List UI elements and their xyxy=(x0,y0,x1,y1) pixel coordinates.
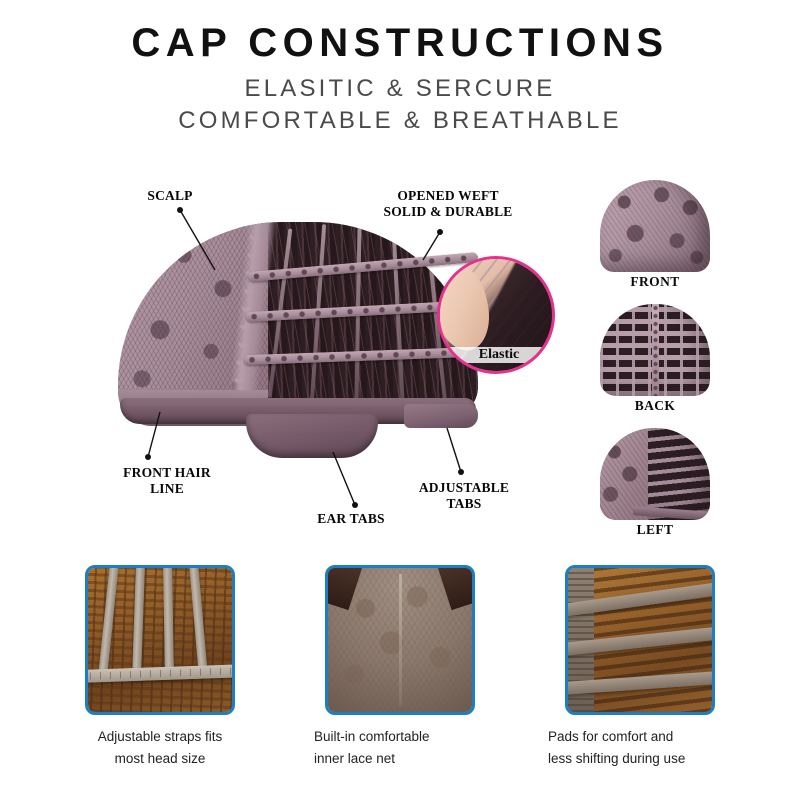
subtitle-line-1: ELASITIC & SERCURE xyxy=(0,74,800,104)
view-caption-left: LEFT xyxy=(575,522,735,538)
feature-caption: Pads for comfort and less shifting durin… xyxy=(540,726,740,771)
feature-image-frame xyxy=(325,565,475,715)
elastic-label: Elastic xyxy=(440,347,555,363)
feature-comfort-pads: Pads for comfort and less shifting durin… xyxy=(540,565,740,771)
lace-center-seam xyxy=(399,574,402,706)
back-dome-shape xyxy=(600,304,710,396)
elastic-inset-circle: Elastic xyxy=(437,256,555,374)
feature-panels: Adjustable straps fits most head size Bu… xyxy=(0,565,800,771)
feature-adjustable-straps: Adjustable straps fits most head size xyxy=(60,565,260,771)
view-back: BACK xyxy=(575,304,735,414)
cap-view-thumbnails: FRONT BACK LEFT xyxy=(575,180,735,538)
left-dome-shape xyxy=(600,428,710,520)
main-cap-illustration xyxy=(118,222,478,452)
callout-ear-tabs: EAR TABS xyxy=(306,511,396,527)
header: CAP CONSTRUCTIONS ELASITIC & SERCURE COM… xyxy=(0,22,800,136)
adjustable-tab xyxy=(404,404,478,428)
view-front: FRONT xyxy=(575,180,735,290)
feature-inner-lace-net: Built-in comfortable inner lace net xyxy=(300,565,500,771)
cap-dome xyxy=(118,222,478,418)
front-dome-shape xyxy=(600,180,710,272)
ear-tab xyxy=(246,414,378,458)
page-title: CAP CONSTRUCTIONS xyxy=(0,22,800,65)
callout-scalp: SCALP xyxy=(140,188,200,204)
callout-adjustable-tabs: ADJUSTABLE TABS xyxy=(405,480,523,511)
callout-front-hair-line: FRONT HAIR LINE xyxy=(112,465,222,496)
front-view-image xyxy=(600,180,710,272)
vertical-strap xyxy=(163,565,174,676)
back-view-image xyxy=(600,304,710,396)
feature-caption: Adjustable straps fits most head size xyxy=(60,726,260,771)
view-caption-back: BACK xyxy=(575,398,735,414)
back-center-rib xyxy=(652,304,659,396)
left-view-image xyxy=(600,428,710,520)
subtitle-line-2: COMFORTABLE & BREATHABLE xyxy=(0,106,800,136)
callout-opened-weft: OPENED WEFT SOLID & DURABLE xyxy=(378,188,518,219)
feature-image-frame xyxy=(565,565,715,715)
view-caption-front: FRONT xyxy=(575,274,735,290)
feature-image-frame xyxy=(85,565,235,715)
view-left: LEFT xyxy=(575,428,735,538)
feature-caption: Built-in comfortable inner lace net xyxy=(300,726,500,771)
